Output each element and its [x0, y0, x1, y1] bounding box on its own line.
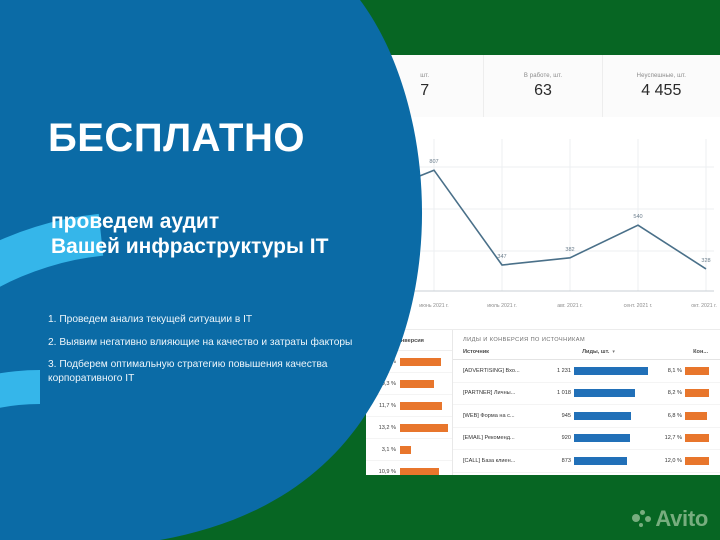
list-item: 3. Подберем оптимальную стратегию повыше…	[48, 358, 398, 385]
headline: БЕСПЛАТНО	[48, 118, 305, 158]
promo-shape-svg	[0, 0, 720, 540]
subheadline-line-2: Вашей инфраструктуры IT	[51, 235, 441, 260]
list-item: 1. Проведем анализ текущей ситуации в IT	[48, 313, 398, 327]
benefit-list: 1. Проведем анализ текущей ситуации в IT…	[48, 313, 398, 394]
promo-panel: БЕСПЛАТНО проведем аудит Вашей инфрастру…	[0, 0, 720, 540]
avito-watermark: Avito	[632, 508, 708, 530]
subheadline: проведем аудит Вашей инфраструктуры IT	[51, 210, 441, 260]
list-item: 2. Выявим негативно влияющие на качество…	[48, 336, 398, 350]
subheadline-line-1: проведем аудит	[51, 210, 441, 235]
avito-wordmark: Avito	[655, 508, 708, 530]
poster-canvas: шт. 7 В работе, шт. 63 Неуспешные, шт. 4…	[0, 0, 720, 540]
avito-dots-icon	[632, 509, 652, 529]
promo-blue-blob	[0, 0, 422, 540]
